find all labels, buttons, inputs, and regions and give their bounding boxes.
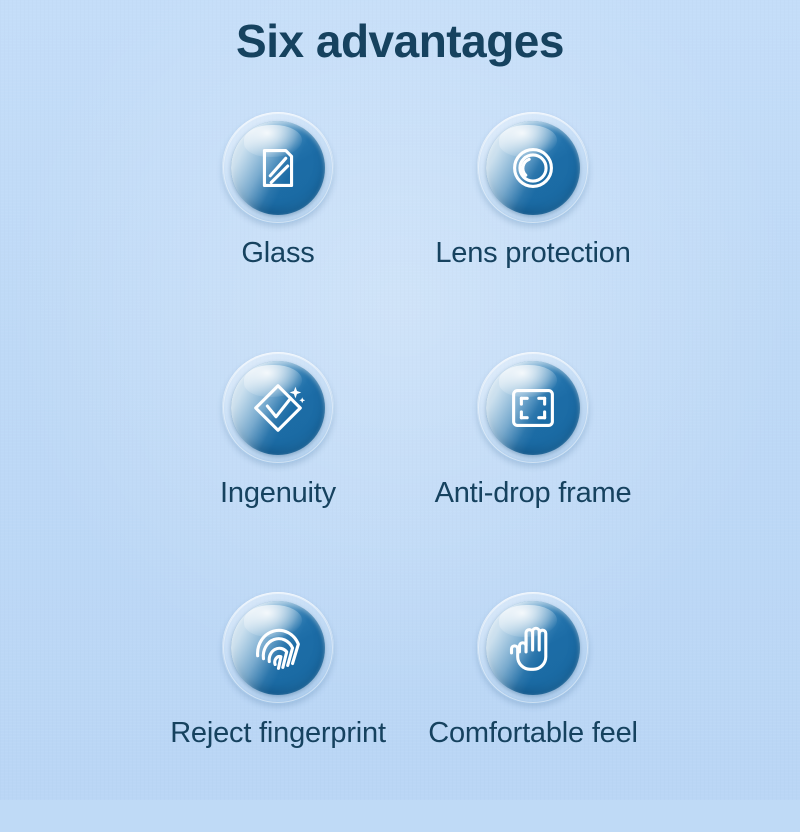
open-palm-hand-icon <box>477 592 589 704</box>
fingerprint-icon <box>222 592 334 704</box>
advantage-item-lens-protection: Lens protection <box>383 112 683 270</box>
advantage-badge <box>222 592 334 704</box>
page-title: Six advantages <box>0 14 800 68</box>
advantage-item-comfortable-feel: Comfortable feel <box>383 592 683 750</box>
advantage-label: Lens protection <box>383 237 683 270</box>
advantage-badge <box>222 112 334 224</box>
advantage-badge <box>477 592 589 704</box>
corner-bracket-frame-icon <box>477 352 589 464</box>
advantages-row: Glass L <box>0 112 800 352</box>
screen-protector-glass-icon <box>222 112 334 224</box>
advantages-grid: Glass L <box>0 112 800 832</box>
six-advantages-poster: Six advantages <box>0 0 800 800</box>
camera-lens-icon <box>477 112 589 224</box>
advantages-row: Ingenuity <box>0 352 800 592</box>
advantage-badge <box>477 112 589 224</box>
advantage-item-anti-drop-frame: Anti-drop frame <box>383 352 683 510</box>
advantage-label: Comfortable feel <box>383 717 683 750</box>
advantage-badge <box>222 352 334 464</box>
diamond-check-sparkle-icon <box>222 352 334 464</box>
advantage-label: Anti-drop frame <box>383 477 683 510</box>
advantages-row: Reject fingerprint <box>0 592 800 832</box>
advantage-badge <box>477 352 589 464</box>
